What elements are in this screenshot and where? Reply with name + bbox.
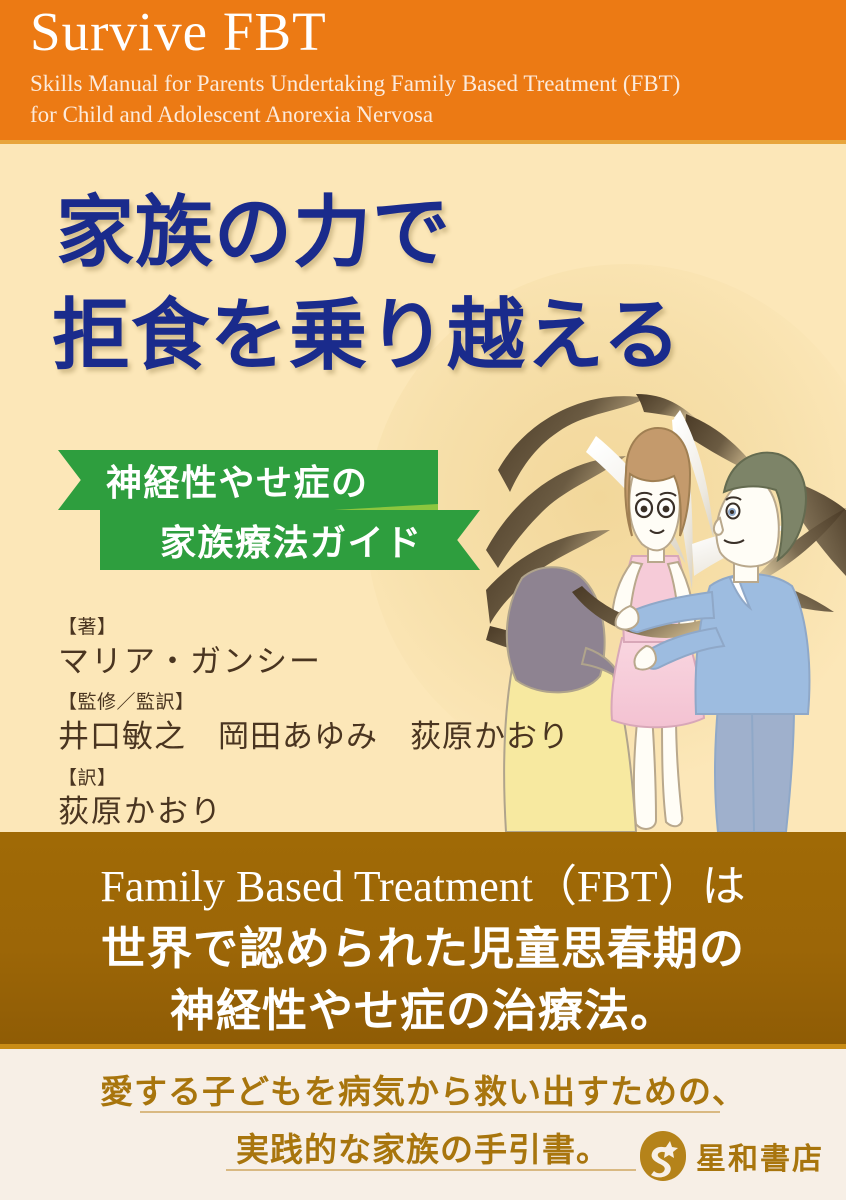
credits-block: 【著】 マリア・ガンシー 【監修／監訳】 井口敏之 岡田あゆみ 荻原かおり 【訳… — [58, 614, 570, 832]
page-title-line-1: 家族の力で — [56, 182, 682, 285]
publisher-block: 星和書店 — [640, 1131, 824, 1181]
credit-role-author: 【著】 — [58, 614, 570, 642]
credit-role-translator: 【訳】 — [58, 765, 570, 793]
publisher-name: 星和書店 — [696, 1134, 824, 1178]
credit-name-author: マリア・ガンシー — [58, 642, 570, 684]
footer-tagline-1: 愛する子どもを病気から救い出すための、 — [0, 1065, 846, 1113]
credit-name-translator: 荻原かおり — [58, 792, 570, 832]
book-cover: Survive FBT Skills Manual for Parents Un… — [0, 0, 846, 1200]
ribbon-subtitle-1: 神経性やせ症の — [58, 450, 438, 510]
statement-line-3: 神経性やせ症の治療法。 — [0, 974, 846, 1039]
ribbon-subtitle-2: 家族療法ガイド — [100, 510, 480, 570]
credit-role-supervisor: 【監修／監訳】 — [58, 689, 570, 717]
seiwa-shoten-logo-icon — [640, 1131, 686, 1181]
english-subtitle: Skills Manual for Parents Undertaking Fa… — [30, 68, 680, 130]
footer-rule-2 — [226, 1169, 636, 1171]
footer-rule-1 — [140, 1111, 720, 1113]
page-title-line-2: 拒食を乗り越える — [52, 285, 682, 388]
statement-line-2: 世界で認められた児童思春期の — [0, 912, 846, 977]
english-title: Survive FBT — [30, 0, 327, 67]
statement-line-1: Family Based Treatment（FBT）は — [0, 850, 846, 914]
main-cream-area: 家族の力で 拒食を乗り越える 神経性やせ症の 家族療法ガイド 【著】 マリア・ガ… — [0, 144, 846, 832]
header-band: Survive FBT Skills Manual for Parents Un… — [0, 0, 846, 140]
statement-band: Family Based Treatment（FBT）は 世界で認められた児童思… — [0, 832, 846, 1044]
page-title: 家族の力で 拒食を乗り越える — [56, 182, 682, 388]
english-subtitle-line-2: for Child and Adolescent Anorexia Nervos… — [30, 99, 680, 130]
credit-name-supervisor: 井口敏之 岡田あゆみ 荻原かおり — [58, 717, 570, 759]
footer-band: 愛する子どもを病気から救い出すための、 実践的な家族の手引書。 星和書店 — [0, 1049, 846, 1200]
english-subtitle-line-1: Skills Manual for Parents Undertaking Fa… — [30, 68, 680, 99]
subtitle-ribbons: 神経性やせ症の 家族療法ガイド — [0, 444, 520, 579]
